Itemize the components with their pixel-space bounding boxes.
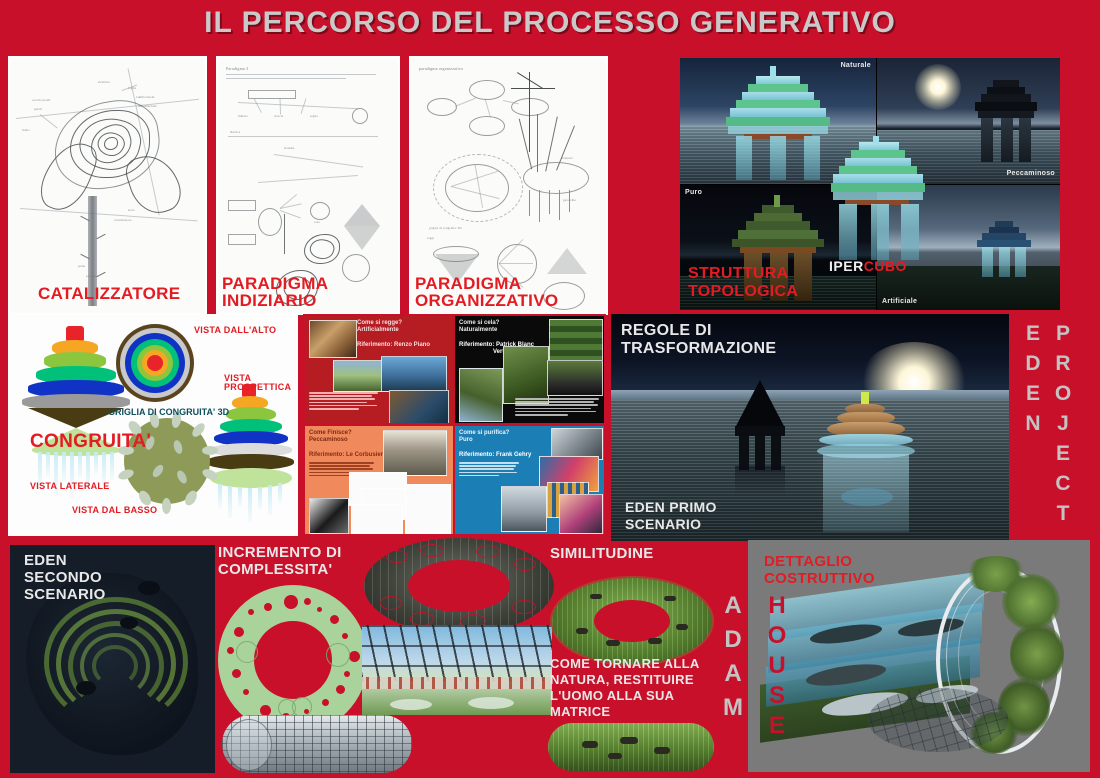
reference-photo — [549, 319, 603, 363]
render-ipercubo-center — [823, 136, 933, 310]
project-letter: P — [1050, 322, 1076, 346]
eden-letter: D — [1020, 352, 1046, 376]
sketch-annotation: griglia di congruita' 3D — [429, 226, 462, 230]
label-iper: IPER — [829, 258, 864, 274]
adam-letter: A — [718, 660, 748, 688]
title-struttura: STRUTTURA — [688, 266, 788, 283]
similitude-body-line1: COME TORNARE ALLA — [550, 657, 700, 671]
house-letter: H — [762, 592, 792, 620]
similitude-title: SIMILITUDINE — [550, 546, 654, 563]
sketch-panel-catalizzatore: corolla petali petali inizio struttura f… — [8, 56, 207, 315]
sketch-annotation: struttura — [561, 156, 573, 160]
label-cubo: CUBO — [864, 258, 907, 274]
reference-attribution: Riferimento: Frank Gehry — [459, 452, 531, 459]
sketch-annotation: ramificazioni — [136, 95, 155, 99]
eden-second-scenario-panel: EDEN SECONDO SCENARIO — [10, 545, 215, 773]
sketch-annotation: inizio — [22, 128, 30, 132]
complexity-torus-dark — [364, 538, 554, 634]
label-congruita: CONGRUITA' — [30, 432, 151, 452]
scenario-title-line1: EDEN PRIMO — [625, 500, 717, 515]
reference-body-text — [459, 462, 521, 478]
reference-answer: Peccaminoso — [309, 437, 348, 444]
sketch-annotation: segno — [310, 114, 318, 118]
sketch-annotation: processo — [86, 274, 98, 278]
reference-photo — [405, 484, 451, 534]
eden-letter: N — [1020, 412, 1046, 436]
label-vista-dal-basso: VISTA DAL BASSO — [72, 506, 157, 515]
reference-question: Come Finisce? — [309, 430, 352, 437]
label-vista-laterale: VISTA LATERALE — [30, 482, 110, 491]
construction-title-line1: DETTAGLIO — [764, 554, 852, 570]
project-letter: J — [1050, 412, 1076, 436]
congruity-perspective-stack — [206, 384, 294, 524]
transformation-panel: REGOLE DI TRASFORMAZIONE EDEN PRIMO SCEN… — [611, 314, 1009, 541]
house-letter: U — [762, 652, 792, 680]
reference-attribution: Riferimento: Renzo Piano — [357, 342, 430, 349]
sketch-annotation: traccia — [274, 114, 283, 118]
reference-photo — [383, 430, 447, 476]
dark-structure — [735, 380, 785, 472]
eden-letter: E — [1020, 382, 1046, 406]
reference-body-text — [515, 398, 601, 417]
reference-answer: Puro — [459, 437, 473, 444]
caption-organizzativo-line2: ORGANIZZATIVO — [415, 292, 558, 310]
sketch-heading: Paradigma 3 — [226, 66, 248, 71]
congruity-top-view — [116, 324, 194, 402]
sketch-annotation: matrice — [230, 130, 240, 134]
house-letter: S — [762, 682, 792, 710]
adam-letter: D — [718, 626, 748, 654]
reference-answer: Artificialmente — [357, 327, 399, 334]
label-griglia-congruita: GRIGLIA DI CONGRUITA' 3D — [108, 407, 229, 417]
eden-project-vertical: E D E N P R O J E C T — [1020, 318, 1096, 538]
project-letter: C — [1050, 472, 1076, 496]
caption-indiziario-line2: INDIZIARIO — [222, 292, 317, 310]
topological-structure-panel: Naturale Peccaminoso — [680, 58, 1060, 310]
reference-photo — [501, 486, 547, 532]
eden-second-line2: SECONDO — [24, 570, 102, 587]
sketch-annotation: raggi — [427, 236, 434, 240]
sketch-annotation: indizio — [238, 114, 248, 118]
label-peccaminoso: Peccaminoso — [1007, 170, 1055, 178]
reference-photo — [333, 360, 385, 392]
glass-structure — [817, 392, 915, 540]
label-puro: Puro — [685, 189, 702, 197]
construction-title-line2: COSTRUTTIVO — [764, 571, 875, 587]
transformation-title-line2: TRASFORMAZIONE — [621, 340, 776, 358]
poster-root: IL PERCORSO DEL PROCESSO GENERATIVO coro… — [0, 0, 1100, 778]
reference-question: Come si regge? — [357, 320, 402, 327]
reference-photo — [381, 356, 447, 392]
eden-second-line1: EDEN — [24, 553, 67, 570]
reference-photo — [547, 360, 603, 396]
adam-vertical: A D A M — [718, 592, 748, 752]
similitude-body-line4: MATRICE — [550, 705, 610, 719]
sketch-annotation: spine — [78, 264, 85, 268]
reference-cell-le-corbusier: Come Finisce? Peccaminoso Riferimento: L… — [305, 426, 453, 534]
reference-photo — [351, 504, 403, 534]
sketch-heading: paradigma organizzativo — [419, 66, 463, 71]
transformation-title-line1: REGOLE DI — [621, 322, 712, 340]
reference-photo — [503, 346, 549, 404]
label-naturale: Naturale — [841, 62, 871, 70]
similitude-torus-green — [552, 578, 712, 664]
reference-photo — [459, 368, 503, 422]
title-topologica: TOPOLOGICA — [688, 284, 798, 301]
sketch-annotation: corolla petali — [32, 98, 51, 102]
label-vista-dall-alto: VISTA DALL'ALTO — [194, 326, 276, 335]
perforated-ring-diagram — [218, 585, 368, 735]
similitude-capsule-green — [548, 723, 714, 771]
page-title: IL PERCORSO DEL PROCESSO GENERATIVO — [0, 6, 1100, 40]
house-letter: O — [762, 622, 792, 650]
reference-answer: Naturalmente — [459, 327, 497, 334]
sketch-annotation: rosa — [314, 220, 320, 224]
sketch-annotation: sistema — [284, 146, 294, 150]
caption-catalizzatore: CATALIZZATORE — [38, 285, 180, 303]
reference-question: Come si cela? — [459, 320, 499, 327]
sketch-annotation: petali — [34, 107, 42, 111]
reference-cell-renzo-piano: Come si regge? Artificialmente Riferimen… — [305, 316, 453, 423]
sketch-annotation: deformazione — [138, 104, 157, 108]
eden-letter: E — [1020, 322, 1046, 346]
house-vertical: H O U S E — [762, 592, 792, 762]
house-letter: E — [762, 712, 792, 740]
project-letter: T — [1050, 502, 1076, 526]
reference-cell-patrick-blanc: Come si cela? Naturalmente Riferimento: … — [455, 316, 604, 423]
complexity-title-line2: COMPLESSITA' — [218, 562, 332, 579]
adam-letter: M — [718, 694, 748, 722]
reference-cell-frank-gehry: Come si purifica? Puro Riferimento: Fran… — [455, 426, 604, 534]
congruity-panel: VISTA DALL'ALTO VISTA PROSPETTICA GRIGLI… — [8, 314, 298, 536]
label-ipercubo: IPERCUBO — [829, 258, 907, 274]
cylinder-house-render — [758, 560, 1058, 756]
sketch-annotation: gerarchia — [563, 198, 576, 202]
reference-photo — [309, 498, 349, 534]
complexity-title-line1: INCREMENTO DI — [218, 545, 342, 562]
sketch-annotation: stelo — [128, 208, 135, 212]
label-vista-prospettica: VISTA PROSPETTICA — [224, 374, 298, 393]
project-letter: O — [1050, 382, 1076, 406]
reference-photo — [309, 320, 357, 358]
dome-interior-photo — [362, 625, 552, 715]
similitude-body-line3: L'UOMO ALLA SUA — [550, 689, 674, 703]
reference-question: Come si purifica? — [459, 430, 509, 437]
scenario-title-line2: SCENARIO — [625, 517, 701, 532]
mesh-cylinder-diagram — [222, 715, 412, 773]
eden-second-line3: SCENARIO — [24, 587, 106, 604]
similitude-body-line2: NATURA, RESTITUIRE — [550, 673, 694, 687]
project-letter: E — [1050, 442, 1076, 466]
sketch-annotation: catalizzatore — [114, 218, 132, 222]
sketch-annotation: struttura — [98, 80, 110, 84]
adam-letter: A — [718, 592, 748, 620]
reference-body-text — [309, 392, 381, 411]
references-panel: Come si regge? Artificialmente Riferimen… — [303, 314, 606, 536]
reference-photo — [389, 390, 449, 423]
construction-detail-panel: DETTAGLIO COSTRUTTIVO H O U S E — [748, 540, 1090, 772]
reference-photo — [559, 494, 603, 534]
project-letter: R — [1050, 352, 1076, 376]
reference-attribution: Riferimento: Le Corbusier — [309, 452, 383, 459]
